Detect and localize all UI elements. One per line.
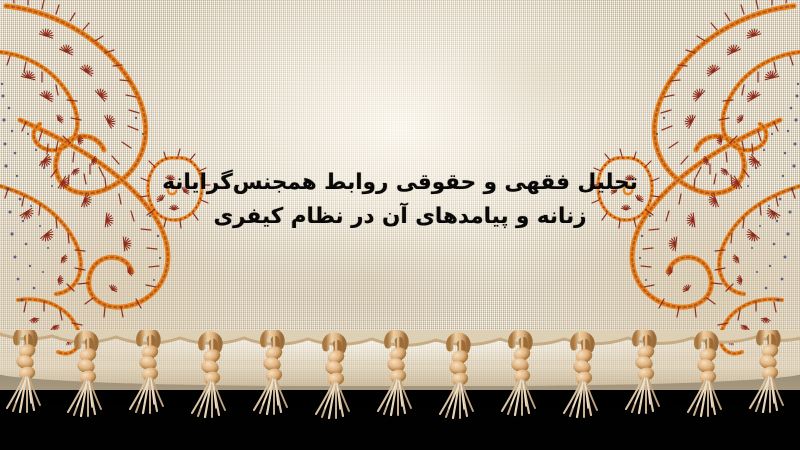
title-card-canvas: تحلیل فقهی و حقوقی روابط همجنس‌گرایانه ز… — [0, 0, 800, 450]
title-block: تحلیل فقهی و حقوقی روابط همجنس‌گرایانه ز… — [0, 166, 800, 234]
title-line-2: زنانه و پیامدهای آن در نظام کیفری — [0, 200, 800, 234]
title-line-1: تحلیل فقهی و حقوقی روابط همجنس‌گرایانه — [0, 166, 800, 200]
